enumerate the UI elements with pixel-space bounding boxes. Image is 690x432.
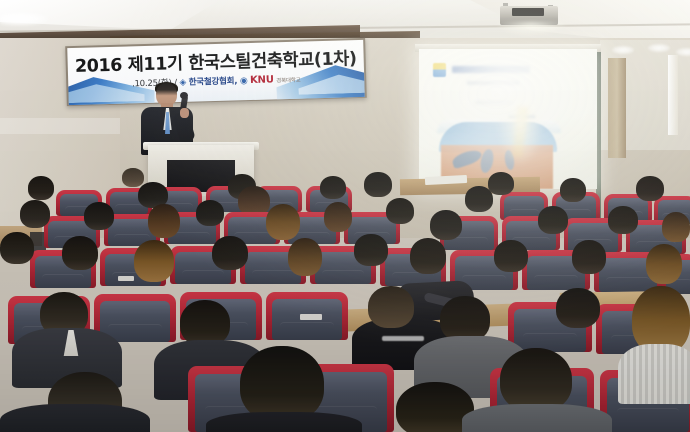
audience-head-r1-i [488, 172, 514, 195]
audience-head-r5-b [240, 346, 324, 422]
projector-lens-icon [512, 8, 544, 16]
audience-head-r4-d [556, 288, 600, 328]
speaker-hand [180, 108, 189, 118]
audience-head-r4-print-tshirt [368, 286, 414, 328]
audience-head-r3-i [572, 240, 606, 274]
knu-mark-icon: ◉ [240, 76, 248, 86]
audience-head-r3-j [646, 244, 682, 284]
projection-screen [419, 49, 597, 189]
audience-head-r3-d [212, 236, 248, 270]
audience-head-r2-k [662, 212, 690, 242]
banner-organizer: 한국철강협회, [189, 76, 238, 87]
microphone-head-icon [180, 92, 188, 99]
audience-shoulders-r5-b [206, 412, 362, 432]
audience-head-r1-g [364, 172, 392, 197]
audience-head-r1-a [28, 176, 54, 200]
ceiling-spot-light-1 [612, 46, 634, 54]
audience-head-r3-h [494, 240, 528, 272]
event-banner: 2016 제11기 한국스틸건축학교(1차) .10.25(화) / ◈ 한국철… [67, 40, 364, 105]
audience-head-r2-b [84, 202, 114, 230]
projector-glow [496, 22, 566, 36]
seat-number-tag-r4-4 [300, 314, 322, 320]
audience-head-r3-f [354, 234, 388, 266]
audience-shoulders-r5-d-gray [462, 404, 612, 432]
banner-knu-logo: KNU [250, 74, 274, 86]
audience-head-r1-j [560, 178, 586, 202]
tshirt-print-text [382, 336, 424, 341]
audience-head-r3-e [288, 238, 322, 276]
seat-number-tag-r3-2 [118, 276, 134, 281]
audience-head-r2-d [196, 200, 224, 226]
right-wall-column-light [668, 55, 678, 135]
audience-shoulders-r5-a [0, 404, 150, 432]
right-wall-column [608, 58, 626, 158]
audience-head-r3-c [134, 240, 174, 282]
audience-head-r2-f [324, 202, 352, 232]
audience-head-r3-g [410, 238, 446, 274]
audience-head-r2-i [538, 206, 568, 234]
audience-shoulders-r5-e-striped [618, 344, 690, 404]
audience-head-r2-c [148, 204, 180, 238]
audience-head-r2-e [266, 204, 300, 240]
audience-head-r3-a [0, 232, 34, 264]
audience-head-r1-k [636, 176, 664, 201]
ceiling-lamp-left [0, 12, 48, 26]
audience-head-r2-j [608, 206, 638, 234]
audience-head-r1-b [122, 168, 144, 187]
audience-head-r1-f [320, 176, 346, 199]
banner-knu-subtitle: 경북대학교 [276, 78, 300, 85]
audience-head-r2-g [386, 198, 414, 224]
steel-association-mark-icon: ◈ [179, 78, 186, 88]
ceiling-spot-light-2 [648, 44, 670, 52]
audience-head-r3-b [62, 236, 98, 270]
audience-head-r5-d [500, 348, 572, 412]
audience-head-r2-a [20, 200, 50, 228]
left-wall-stripe [0, 118, 120, 134]
screen-bloom [419, 49, 597, 189]
audience-head-r2-h [430, 210, 462, 240]
auditorium-photo: 2016 제11기 한국스틸건축학교(1차) .10.25(화) / ◈ 한국철… [0, 0, 690, 432]
